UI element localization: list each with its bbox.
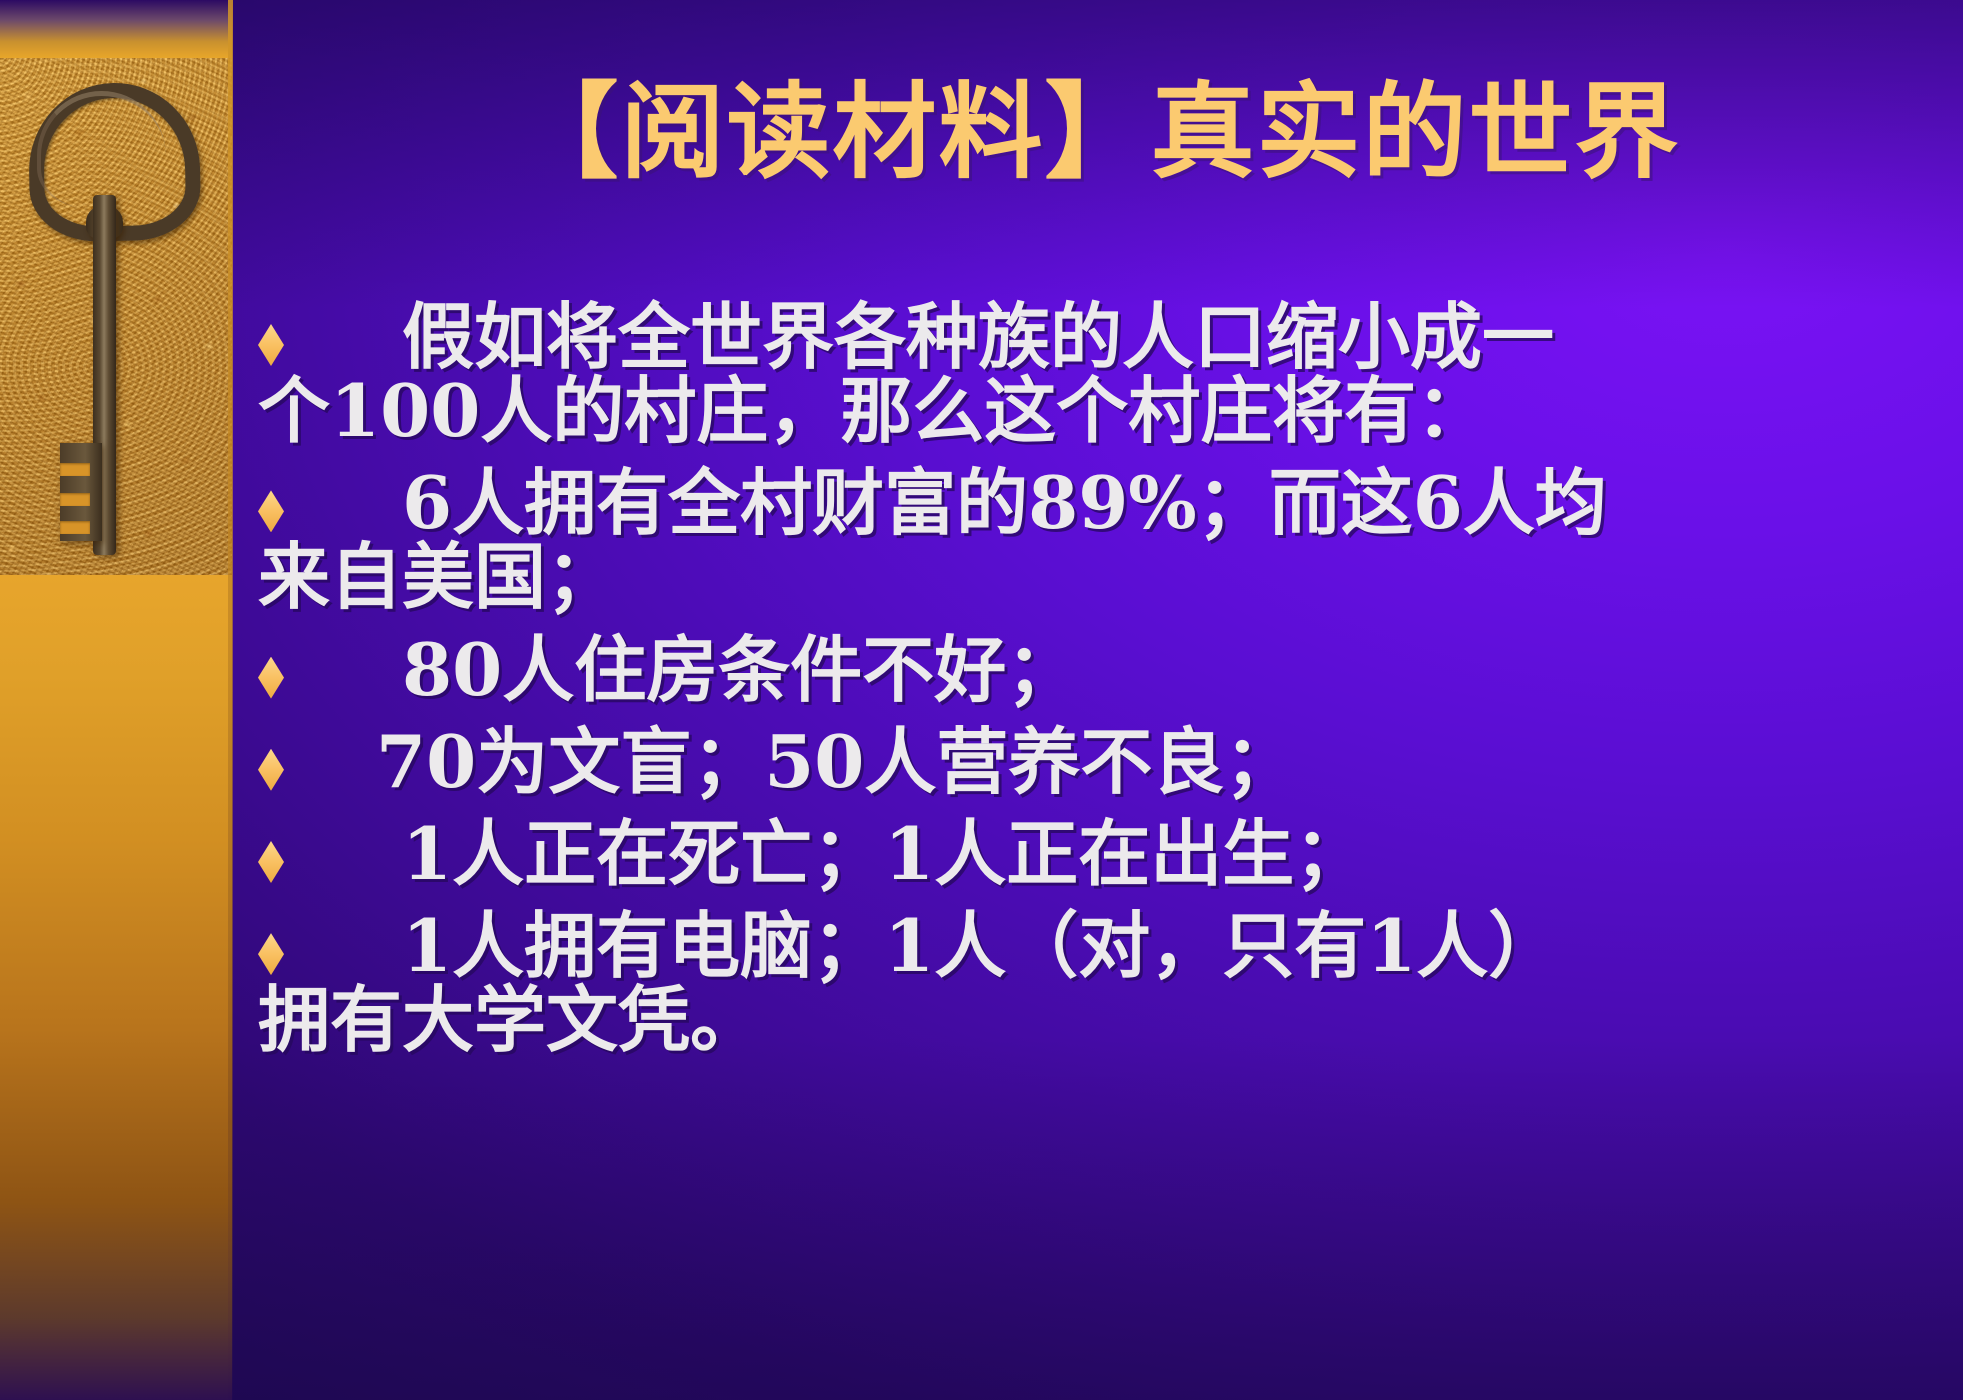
key-notch-3 <box>60 521 90 534</box>
bullet-line-1: 1人正在死亡；1人正在出生； <box>402 811 1366 896</box>
bullet-line-1: 6人拥有全村财富的89%；而这6人均 <box>402 460 1607 545</box>
list-item: 80人住房条件不好； <box>258 633 1948 707</box>
diamond-bullet-icon <box>258 841 284 883</box>
bullet-list: 假如将全世界各种族的人口缩小成一 个100人的村庄，那么这个村庄将有： 6人拥有… <box>258 300 1948 1075</box>
bullet-line-1: 1人拥有电脑；1人（对，只有1人） <box>402 903 1560 988</box>
key-icon <box>0 55 232 575</box>
list-item: 70为文盲；50人营养不良； <box>258 725 1948 799</box>
key-notch-1 <box>60 463 90 476</box>
band-gold-gradient <box>0 575 232 1400</box>
presentation-slide: 【阅读材料】真实的世界 假如将全世界各种族的人口缩小成一 个100人的村庄，那么… <box>0 0 1963 1400</box>
bullet-line-2: 拥有大学文凭。 <box>258 977 762 1062</box>
list-item: 6人拥有全村财富的89%；而这6人均 来自美国； <box>258 466 1948 614</box>
band-top-fade <box>0 0 232 58</box>
band-edge-divider <box>228 0 233 1400</box>
diamond-bullet-icon <box>258 749 284 791</box>
bullet-line-2: 来自美国； <box>258 534 618 619</box>
key-photo <box>0 55 232 575</box>
left-decoration-band <box>0 0 232 1400</box>
diamond-bullet-icon <box>258 490 284 532</box>
list-item: 1人正在死亡；1人正在出生； <box>258 817 1948 891</box>
diamond-bullet-icon <box>258 933 284 975</box>
bullet-line-2: 个100人的村庄，那么这个村庄将有： <box>258 368 1488 453</box>
bullet-line-1: 80人住房条件不好； <box>402 627 1078 712</box>
key-notch-2 <box>60 493 90 506</box>
list-item: 假如将全世界各种族的人口缩小成一 个100人的村庄，那么这个村庄将有： <box>258 300 1948 448</box>
bullet-line-1: 70为文盲；50人营养不良； <box>376 719 1296 804</box>
diamond-bullet-icon <box>258 657 284 699</box>
key-bow-highlight <box>37 91 166 208</box>
diamond-bullet-icon <box>258 324 284 366</box>
bullet-line-1: 假如将全世界各种族的人口缩小成一 <box>402 294 1554 379</box>
slide-title: 【阅读材料】真实的世界 <box>232 72 1963 193</box>
list-item: 1人拥有电脑；1人（对，只有1人） 拥有大学文凭。 <box>258 909 1948 1057</box>
